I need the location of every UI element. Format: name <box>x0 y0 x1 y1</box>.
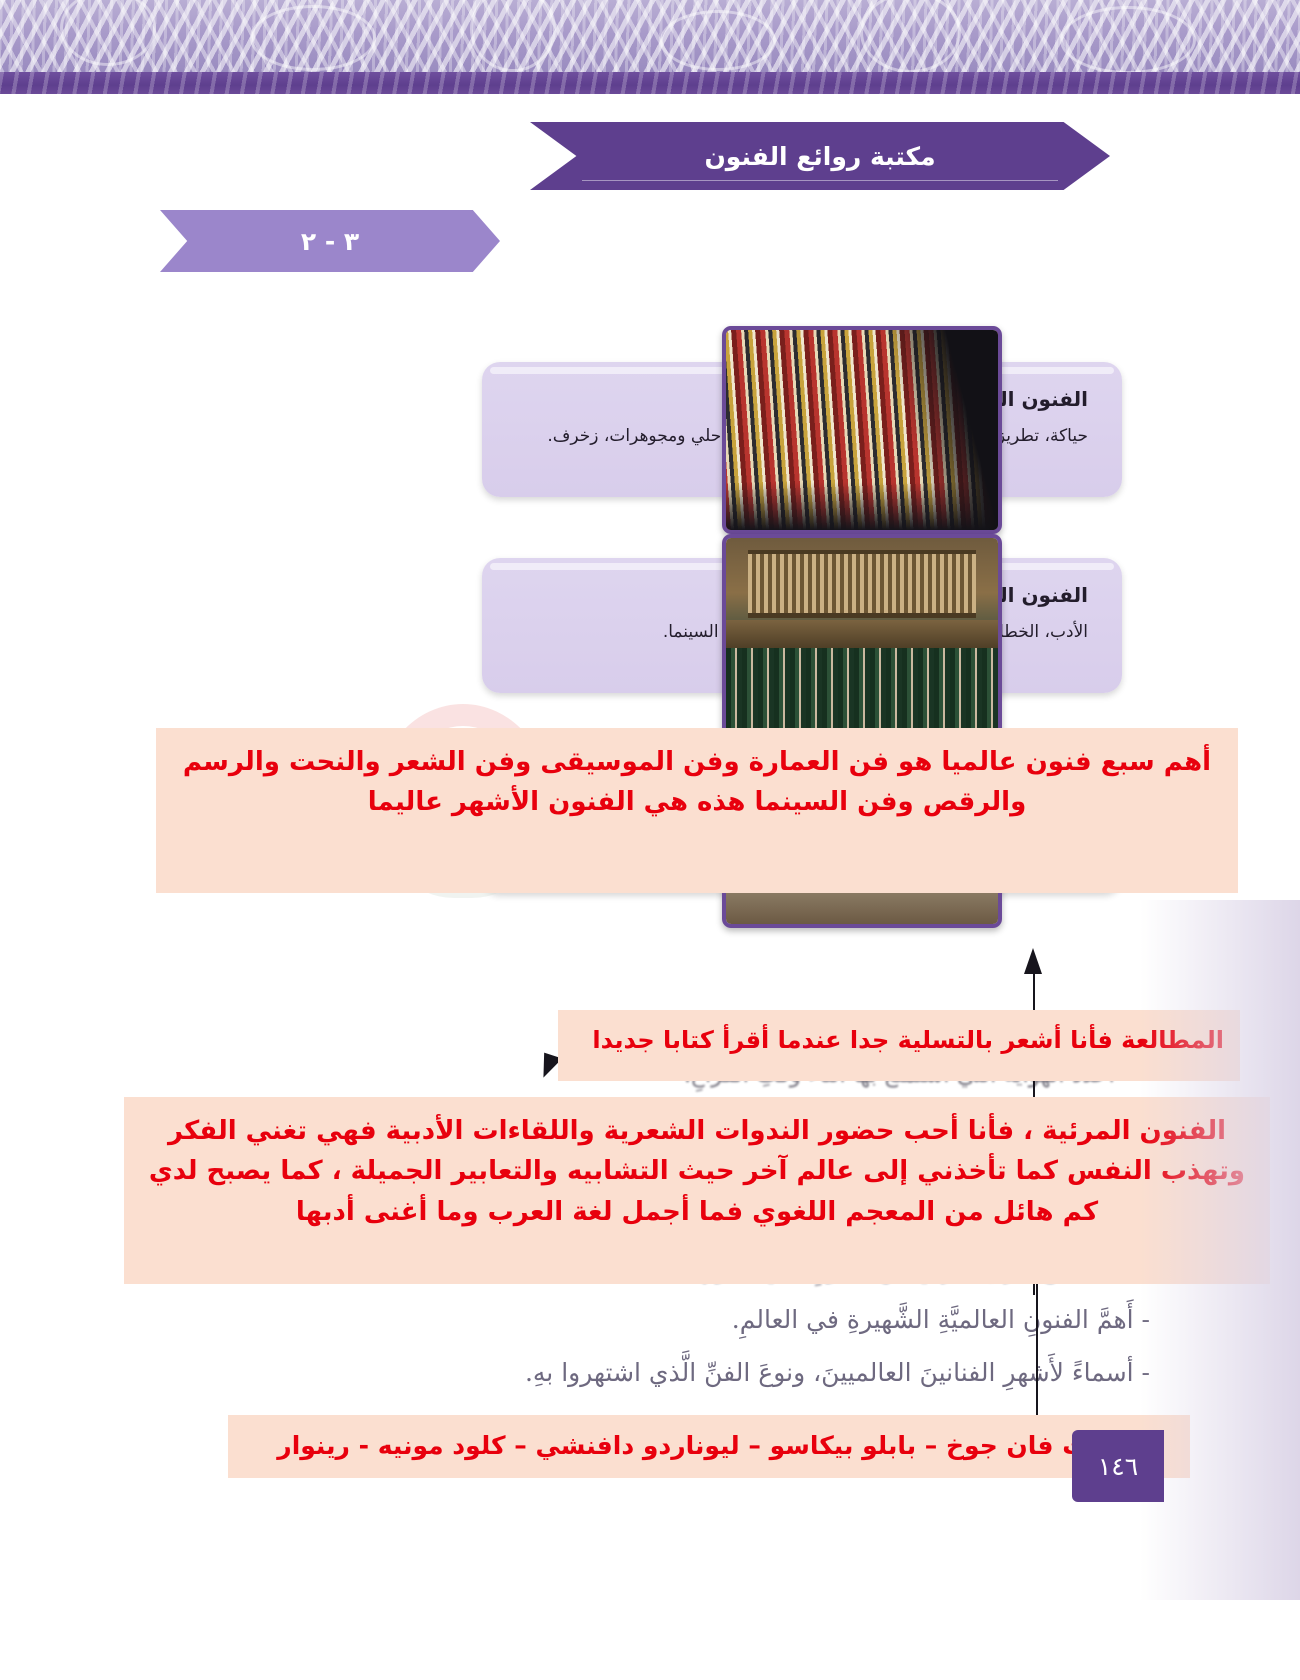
library-title-text: مكتبة روائع الفنون <box>704 142 935 171</box>
page-edge-shadow <box>1140 900 1300 1600</box>
weaving-loom-photo <box>722 326 1002 534</box>
annotation-reading-hobby: المطالعة فأنا أشعر بالتسلية جدا عندما أق… <box>558 1010 1240 1081</box>
page-number-text: ١٤٦ <box>1098 1452 1138 1481</box>
worksheet-line-4: - أسماءً لأَشهرِ الفنانينَ العالميينَ، و… <box>525 1358 1150 1387</box>
annotation-reading-hobby-text: المطالعة فأنا أشعر بالتسلية جدا عندما أق… <box>592 1026 1224 1054</box>
concert-hall-orchestra-photo <box>722 534 1002 738</box>
annotation-visual-arts-answer: الفنون المرئية ، فأنا أحب حضور الندوات ا… <box>124 1097 1270 1284</box>
header-divider-rule <box>0 72 1300 94</box>
page-number-badge: ١٤٦ <box>1072 1430 1164 1502</box>
annotation-visual-arts-answer-text: الفنون المرئية ، فأنا أحب حضور الندوات ا… <box>149 1116 1245 1227</box>
ribbon-underline <box>582 180 1058 181</box>
annotation-famous-artists-text: فنست فان جوخ – بابلو بيكاسو – ليوناردو د… <box>277 1431 1140 1460</box>
library-title-ribbon: مكتبة روائع الفنون <box>530 122 1110 190</box>
textbook-page: مكتبة روائع الفنون ٣ - ٢ الفنون التطبيقي… <box>0 0 1300 1680</box>
lesson-number-text: ٣ - ٢ <box>301 227 359 256</box>
annotation-most-famous-arts: أهم سبع فنون عالميا هو فن العمارة وفن ال… <box>156 728 1238 893</box>
calligraphy-banner <box>0 0 1300 72</box>
annotation-most-famous-arts-text: أهم سبع فنون عالميا هو فن العمارة وفن ال… <box>183 747 1211 817</box>
worksheet-line-3: - أَهمَّ الفنونِ العالميَّةِ الشَّهيرةِ … <box>732 1305 1150 1334</box>
lesson-number-ribbon: ٣ - ٢ <box>160 210 500 272</box>
annotation-famous-artists: فنست فان جوخ – بابلو بيكاسو – ليوناردو د… <box>228 1415 1190 1478</box>
